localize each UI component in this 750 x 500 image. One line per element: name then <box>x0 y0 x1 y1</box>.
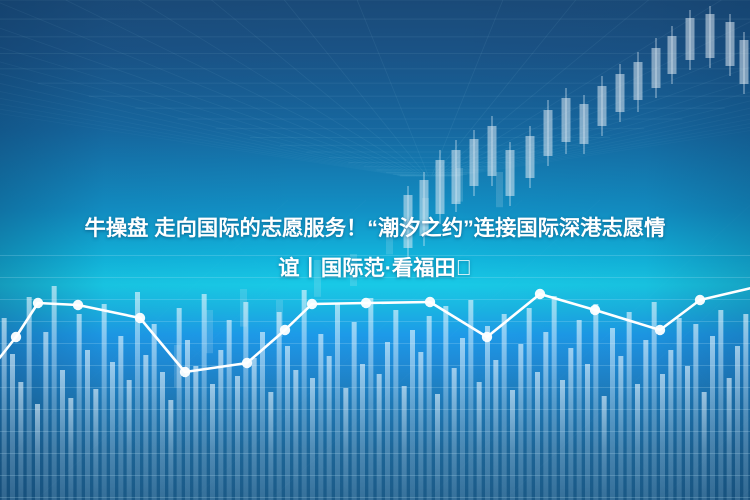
banner-image: 牛操盘 走向国际的志愿服务！“潮汐之约”连接国际深港志愿情 谊丨国际范·看福田􀀀 <box>0 0 750 500</box>
banner-headline: 牛操盘 走向国际的志愿服务！“潮汐之约”连接国际深港志愿情 谊丨国际范·看福田􀀀 <box>0 208 750 288</box>
line-chart-path <box>0 286 750 372</box>
headline-line-1: 牛操盘 走向国际的志愿服务！“潮汐之约”连接国际深港志愿情 <box>0 208 750 248</box>
headline-line-2: 谊丨国际范·看福田􀀀 <box>0 248 750 288</box>
